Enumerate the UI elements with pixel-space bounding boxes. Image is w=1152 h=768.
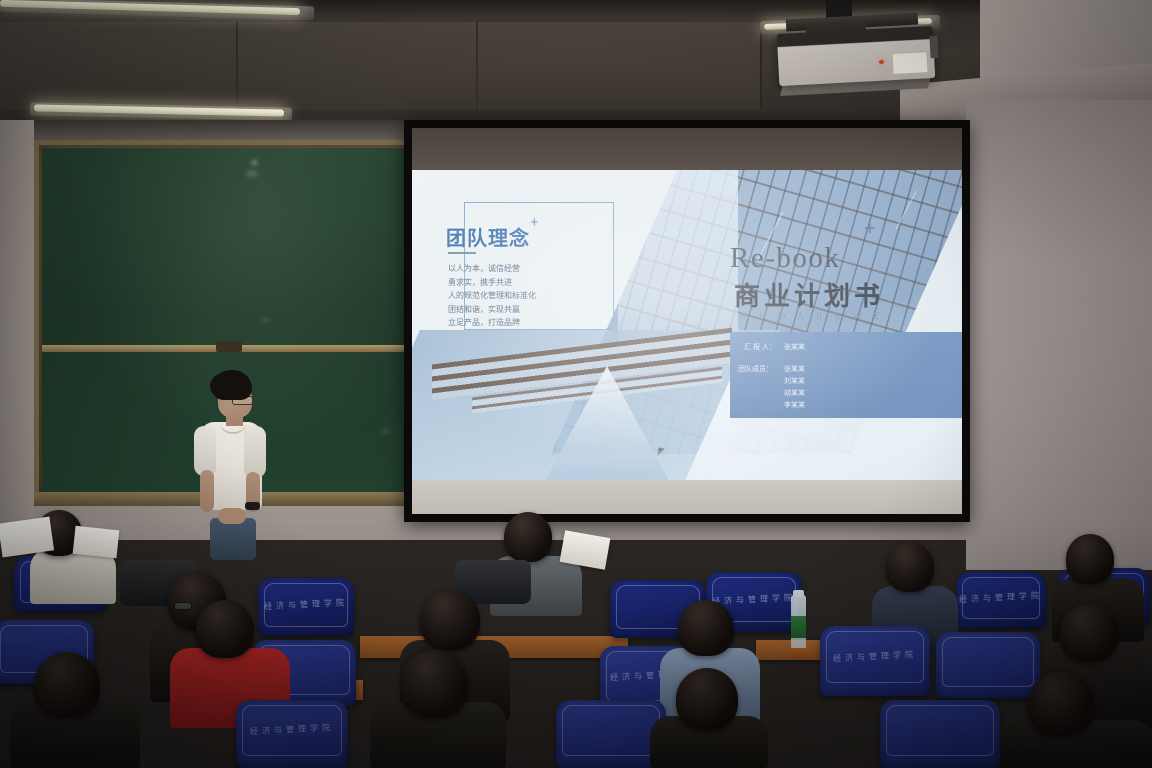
ceiling-seam-1 (236, 22, 238, 110)
ceiling-seam-2 (476, 22, 478, 110)
audience-head (676, 668, 738, 730)
presenter-trousers (210, 518, 256, 560)
paper-handout (0, 517, 54, 558)
slide-title-chinese: 商业计划书 (734, 276, 884, 313)
presenter-sleeve-left (194, 426, 216, 476)
seat-logo-text: 经济与管理学院 (820, 648, 930, 665)
heading-underline (448, 252, 476, 254)
blackboard-rail-handle[interactable] (216, 341, 242, 352)
team-philosophy-list: 以人为本，诚信经营 勇求实，携手共进 人的规范化管理和标准化 团结和谐，实现共赢… (448, 262, 618, 330)
list-item: 立足产品，打造品牌 (448, 316, 618, 330)
projector-sticker (891, 51, 928, 75)
team-member-name: 张某某 (784, 364, 805, 374)
presenter-standing (188, 370, 272, 560)
audience-head (886, 542, 934, 592)
team-member-name: 刘某某 (784, 376, 805, 386)
audience-head (34, 652, 100, 718)
presenter-sleeve-right (244, 426, 266, 478)
seat[interactable]: 经济与管理学院 (236, 700, 348, 768)
chalk-mark (252, 160, 257, 165)
seat[interactable]: 经济与管理学院 (258, 578, 354, 636)
seat[interactable] (936, 632, 1040, 698)
plus-mark-left-icon: + (530, 214, 539, 231)
seat-logo-text: 经济与管理学院 (236, 722, 348, 739)
plus-mark-right-icon: + (864, 218, 876, 241)
right-wall (966, 100, 1152, 570)
classroom-photo: 团队理念 + 以人为本，诚信经营 勇求实，携手共进 人的规范化管理和标准化 团结… (0, 0, 1152, 768)
presenter-hands (218, 508, 246, 524)
seat[interactable] (880, 700, 1000, 768)
presenter-label: 汇 报 人： (744, 342, 776, 352)
projection-screen[interactable]: 团队理念 + 以人为本，诚信经营 勇求实，携手共进 人的规范化管理和标准化 团结… (412, 128, 962, 514)
slide-title-english: Re-book (730, 242, 840, 275)
presenter-name: 张某某 (784, 342, 805, 352)
projector-vent (929, 36, 938, 58)
screen-top-dark-band (412, 128, 962, 170)
list-item: 勇求实，携手共进 (448, 276, 618, 290)
presenter-arm-left (200, 470, 214, 512)
eyeglasses-icon (174, 602, 192, 610)
slide-subtitle: W H O A R E W E (738, 312, 885, 322)
presentation-slide: 团队理念 + 以人为本，诚信经营 勇求实，携手共进 人的规范化管理和标准化 团结… (412, 170, 962, 480)
audience-head (1060, 604, 1118, 662)
ceiling-beam-main (0, 22, 762, 110)
list-item: 以人为本，诚信经营 (448, 262, 618, 276)
seat[interactable]: 经济与管理学院 (956, 572, 1046, 628)
wristwatch (245, 502, 260, 510)
audience-head (420, 590, 480, 650)
chalk-smudge (380, 430, 390, 433)
seat[interactable]: 经济与管理学院 (820, 626, 930, 696)
list-item: 团结和谐，实现共赢 (448, 303, 618, 317)
audience-head (1066, 534, 1114, 584)
audience-head (1028, 672, 1094, 736)
screen-blank-area (412, 480, 962, 514)
audience-head (196, 600, 254, 658)
bottle-cap (793, 590, 804, 597)
audience-head (400, 650, 468, 718)
bottle-label (791, 616, 806, 638)
team-member-name: 李某某 (784, 400, 805, 410)
audience-head (678, 600, 734, 656)
chalk-smudge (262, 318, 269, 322)
paper-handout (73, 526, 120, 558)
team-member-name: 胡某某 (784, 388, 805, 398)
seat-logo-text: 经济与管理学院 (258, 596, 354, 612)
projector-power-led (879, 60, 884, 64)
wall-left-column (0, 120, 34, 540)
seat-logo-text: 经济与管理学院 (956, 590, 1046, 606)
team-philosophy-heading: 团队理念 (446, 222, 530, 251)
audience-head (504, 512, 552, 562)
mouse-cursor-icon (658, 447, 665, 452)
bottle-base (791, 648, 806, 660)
list-item: 人的规范化管理和标准化 (448, 289, 618, 303)
team-members-label: 团队成员： (738, 364, 773, 374)
chalk-smudge (246, 170, 258, 177)
